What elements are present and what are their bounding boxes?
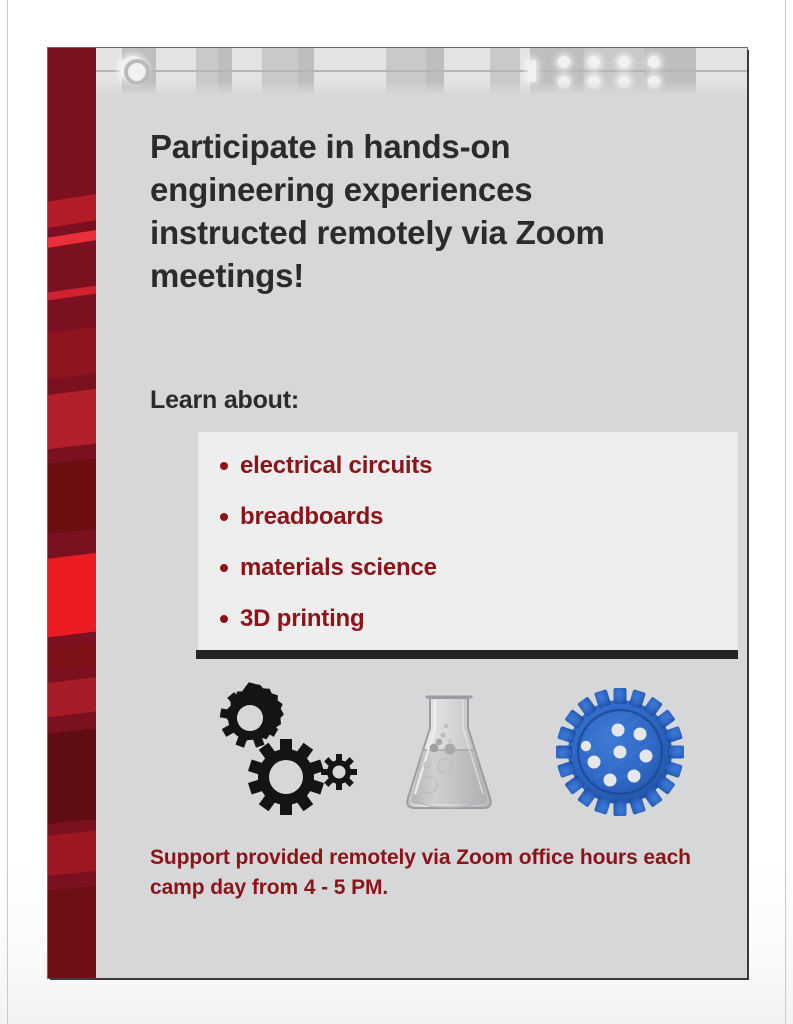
slide-body: Participate in hands-on engineering expe… bbox=[96, 48, 747, 978]
list-item: electrical circuits bbox=[240, 454, 738, 478]
page-rule-right bbox=[785, 0, 786, 1024]
list-item: materials science bbox=[240, 556, 738, 580]
headline-text: Participate in hands-on engineering expe… bbox=[150, 126, 620, 298]
divider-bar bbox=[196, 650, 738, 659]
red-ribbon-graphic bbox=[48, 48, 96, 978]
learn-about-list: electrical circuits breadboards material… bbox=[198, 432, 738, 631]
list-item-label: electrical circuits bbox=[240, 452, 432, 479]
learn-about-card: electrical circuits breadboards material… bbox=[198, 432, 738, 650]
list-item: breadboards bbox=[240, 505, 738, 529]
bullet-dot-icon bbox=[220, 513, 228, 521]
blue-printed-gear-icon bbox=[550, 682, 690, 822]
icon-row bbox=[198, 682, 747, 822]
bullet-dot-icon bbox=[220, 615, 228, 623]
bullet-dot-icon bbox=[220, 564, 228, 572]
page-rule-left bbox=[7, 0, 8, 1024]
flask-icon bbox=[394, 682, 504, 822]
learn-about-label: Learn about: bbox=[150, 386, 299, 415]
slide: Participate in hands-on engineering expe… bbox=[48, 48, 747, 978]
bullet-dot-icon bbox=[220, 462, 228, 470]
list-item-label: 3D printing bbox=[240, 605, 364, 632]
list-item-label: breadboards bbox=[240, 503, 383, 530]
closing-text: Support provided remotely via Zoom offic… bbox=[150, 843, 710, 903]
page-canvas: Participate in hands-on engineering expe… bbox=[0, 0, 793, 1024]
top-photo-band bbox=[96, 48, 747, 95]
list-item-label: materials science bbox=[240, 554, 437, 581]
list-item: 3D printing bbox=[240, 607, 738, 631]
gears-icon bbox=[206, 682, 376, 822]
